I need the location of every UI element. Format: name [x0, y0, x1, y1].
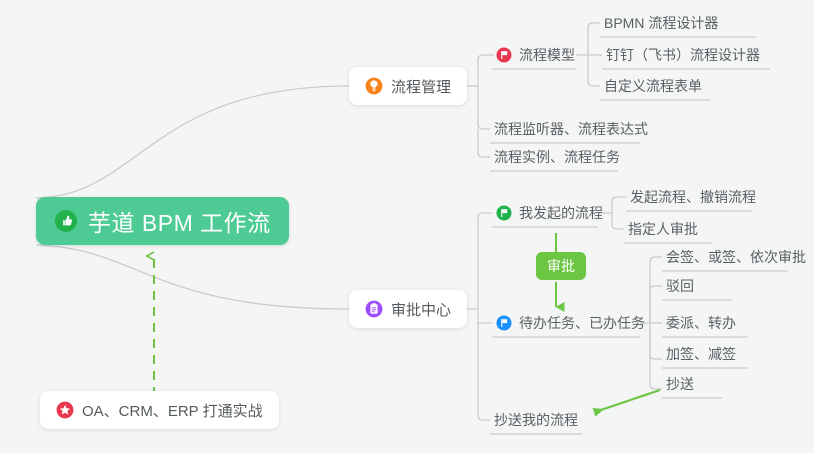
footer-card-label: OA、CRM、ERP 打通实战: [82, 400, 263, 421]
branch-process-management[interactable]: 流程管理: [349, 67, 467, 105]
node-my-initiated-process[interactable]: 我发起的流程: [492, 199, 609, 227]
footer-card-oa-crm-erp[interactable]: OA、CRM、ERP 打通实战: [40, 391, 279, 429]
arrow-cc-to-ccme: [595, 390, 660, 412]
node-label: 加签、减签: [666, 344, 736, 364]
wire-init-to-assigned: [612, 213, 624, 229]
node-label: BPMN 流程设计器: [604, 13, 718, 33]
branch-label: 审批中心: [391, 299, 451, 320]
node-label: 自定义流程表单: [604, 76, 702, 96]
node-assigned-approval[interactable]: 指定人审批: [624, 215, 704, 243]
node-bpmn-designer[interactable]: BPMN 流程设计器: [600, 9, 724, 37]
node-process-listener-expression[interactable]: 流程监听器、流程表达式: [490, 115, 654, 143]
node-label: 钉钉（飞书）流程设计器: [606, 45, 760, 65]
node-cc-to-me-process[interactable]: 抄送我的流程: [490, 406, 584, 434]
wire-pm-to-instance: [478, 129, 490, 157]
flag-icon: [496, 47, 512, 63]
wire-init-to-start: [612, 197, 626, 213]
wire-todo-to-counter: [650, 257, 662, 323]
root-node[interactable]: 芋道 BPM 工作流: [36, 197, 289, 245]
wire-root-to-approval-center: [36, 245, 349, 309]
wire-pm-to-listener: [478, 86, 490, 129]
node-add-remove-sign[interactable]: 加签、减签: [662, 340, 742, 368]
branch-label: 流程管理: [391, 76, 451, 97]
node-label: 委派、转办: [666, 313, 736, 333]
node-label: 抄送: [666, 374, 694, 394]
mindmap-canvas: 芋道 BPM 工作流 流程管理 流程模型 BPMN 流程设计器 钉钉（飞书）流: [0, 0, 814, 453]
node-label: 会签、或签、依次审批: [666, 247, 806, 267]
wire-todo-to-cc: [650, 323, 662, 389]
node-countersign-orsign-sequential[interactable]: 会签、或签、依次审批: [662, 243, 812, 271]
node-label: 驳回: [666, 276, 694, 296]
tag-approval[interactable]: 审批: [536, 252, 586, 280]
node-todo-done-tasks[interactable]: 待办任务、已办任务: [492, 309, 651, 337]
node-delegate-transfer[interactable]: 委派、转办: [662, 309, 742, 337]
flag-icon: [496, 315, 512, 331]
node-process-model[interactable]: 流程模型: [492, 41, 581, 69]
node-cc[interactable]: 抄送: [662, 370, 700, 398]
wire-ac-to-ccme: [478, 323, 490, 420]
node-start-cancel-process[interactable]: 发起流程、撤销流程: [626, 183, 762, 211]
wire-ac-to-todo: [478, 309, 492, 323]
node-label: 抄送我的流程: [494, 410, 578, 430]
wire-root-to-process-management: [36, 86, 349, 198]
node-label: 流程监听器、流程表达式: [494, 119, 648, 139]
root-label: 芋道 BPM 工作流: [88, 204, 271, 238]
node-custom-process-form[interactable]: 自定义流程表单: [600, 72, 708, 100]
node-label: 指定人审批: [628, 219, 698, 239]
flag-icon: [496, 205, 512, 221]
node-reject[interactable]: 驳回: [662, 272, 700, 300]
star-icon: [56, 401, 74, 419]
tag-label: 审批: [547, 256, 575, 276]
node-label: 发起流程、撤销流程: [630, 187, 756, 207]
wire-todo-to-addsign: [650, 323, 662, 359]
lightbulb-icon: [365, 77, 383, 95]
wire-todo-to-reject: [650, 286, 662, 323]
thumbs-up-icon: [54, 209, 78, 233]
wire-ac-to-initiated: [478, 213, 492, 309]
node-process-instance-task[interactable]: 流程实例、流程任务: [490, 143, 626, 171]
wire-model-to-bpmn: [588, 23, 600, 55]
document-circle-icon: [365, 300, 383, 318]
node-label: 流程模型: [519, 45, 575, 65]
node-label: 待办任务、已办任务: [519, 313, 645, 333]
branch-approval-center[interactable]: 审批中心: [349, 290, 467, 328]
wire-model-to-custom: [588, 55, 600, 86]
node-label: 流程实例、流程任务: [494, 147, 620, 167]
node-dingtalk-feishu-designer[interactable]: 钉钉（飞书）流程设计器: [602, 41, 766, 69]
node-label: 我发起的流程: [519, 203, 603, 223]
